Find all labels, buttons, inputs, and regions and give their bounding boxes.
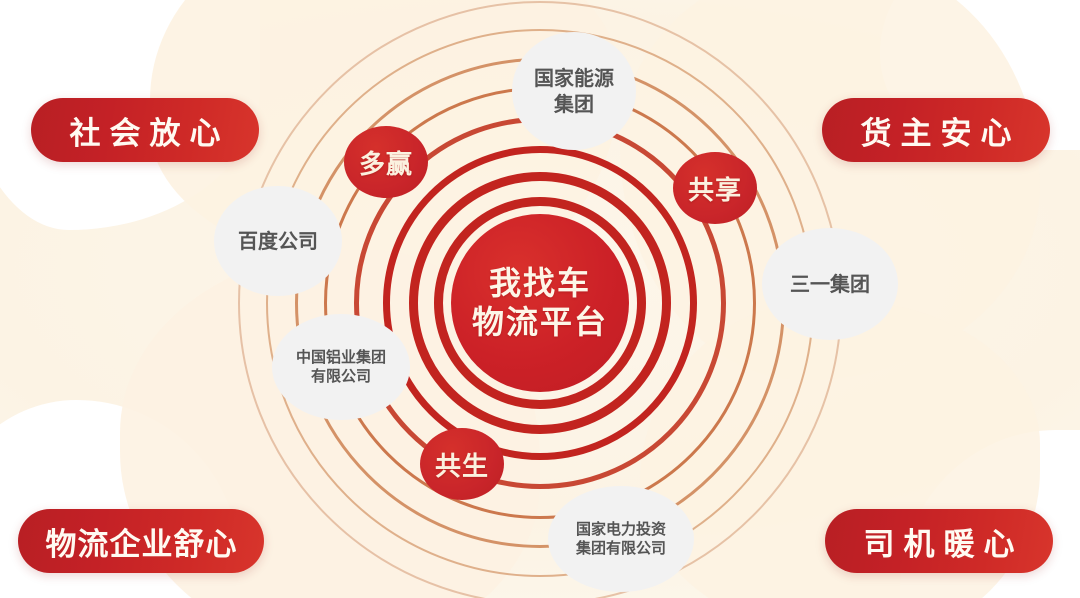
keyword-bubble-gongxiang[interactable]: 共享	[673, 152, 757, 224]
partner-line-2: 集团	[554, 91, 594, 117]
partner-bubble-baidu[interactable]: 百度公司	[214, 186, 342, 296]
partner-bubble-guojianengyuan[interactable]: 国家能源 集团	[512, 32, 636, 150]
badge-top-left[interactable]: 社会放心	[31, 98, 259, 162]
partner-bubble-spic[interactable]: 国家电力投资 集团有限公司	[548, 486, 694, 592]
poster-canvas: 我找车 物流平台 国家能源 集团 百度公司 三一集团 中国铝业集团 有限公司 国…	[0, 0, 1080, 598]
partner-line-1: 国家电力投资	[576, 520, 666, 540]
keyword-bubble-gongsheng[interactable]: 共生	[420, 428, 504, 500]
badge-label: 物流企业舒心	[45, 519, 238, 564]
partner-line-1: 百度公司	[238, 228, 318, 254]
partner-line-2: 有限公司	[311, 367, 371, 387]
badge-bottom-left[interactable]: 物流企业舒心	[18, 509, 264, 573]
keyword-label: 多赢	[359, 144, 413, 181]
badge-label: 司机暖心	[855, 519, 1024, 564]
badge-label: 货主安心	[852, 108, 1021, 153]
core-line-1: 我找车	[489, 264, 591, 303]
core-line-2: 物流平台	[472, 303, 608, 342]
keyword-label: 共生	[435, 446, 489, 483]
badge-bottom-right[interactable]: 司机暖心	[825, 509, 1053, 573]
partner-bubble-chinalco[interactable]: 中国铝业集团 有限公司	[272, 314, 410, 420]
partner-bubble-sany[interactable]: 三一集团	[762, 228, 898, 340]
partner-line-2: 集团有限公司	[576, 539, 666, 559]
partner-line-1: 国家能源	[534, 65, 614, 91]
keyword-label: 共享	[688, 170, 742, 207]
center-core-label: 我找车 物流平台	[451, 214, 629, 392]
badge-top-right[interactable]: 货主安心	[822, 98, 1050, 162]
keyword-bubble-duoying[interactable]: 多赢	[344, 126, 428, 198]
partner-line-1: 三一集团	[790, 271, 870, 297]
badge-label: 社会放心	[61, 108, 230, 153]
partner-line-1: 中国铝业集团	[296, 348, 386, 368]
